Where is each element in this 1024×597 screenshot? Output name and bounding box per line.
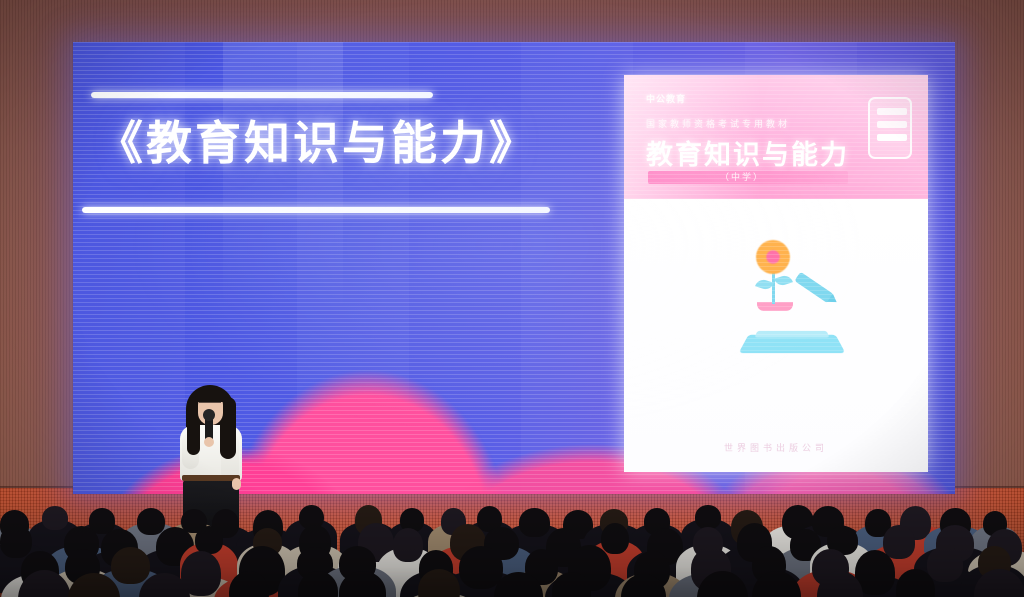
illustration-book-icon bbox=[739, 335, 846, 353]
book-series-label: 国家教师资格考试专用教材 bbox=[646, 117, 790, 130]
book-brand-label: 中公教育 bbox=[646, 92, 686, 105]
audience-member-head bbox=[927, 546, 963, 581]
book-title: 教育知识与能力 bbox=[646, 133, 849, 172]
illustration-leaf-right bbox=[774, 274, 793, 288]
illustration-stem bbox=[772, 270, 775, 304]
seated-audience bbox=[0, 496, 1024, 597]
audience-member-head bbox=[601, 523, 629, 554]
title-rule-bottom bbox=[82, 207, 550, 213]
audience-member-head bbox=[195, 526, 223, 554]
audience-member-head bbox=[883, 525, 915, 559]
audience-member-head bbox=[695, 505, 721, 529]
glasses-icon bbox=[199, 402, 221, 407]
illustration-pot-icon bbox=[757, 302, 793, 311]
book-publisher-label: 世界图书出版公司 bbox=[624, 441, 928, 454]
audience-member-head bbox=[519, 508, 549, 537]
slide-title: 《教育知识与能力》 bbox=[97, 120, 617, 166]
illustration-pencil-icon bbox=[794, 272, 833, 303]
presenter-hand bbox=[204, 437, 214, 447]
book-cover-image: 中公教育 国家教师资格考试专用教材 教育知识与能力 （中学） 世界图书出版公司 bbox=[624, 75, 928, 472]
illustration-flower-icon bbox=[756, 240, 790, 274]
title-rule-top bbox=[91, 92, 433, 98]
book-badge-icon bbox=[868, 97, 912, 159]
audience-member-head bbox=[459, 546, 503, 589]
audience-member-head bbox=[393, 528, 423, 561]
presenter-hair-front bbox=[195, 389, 226, 402]
presenter-hand-free bbox=[232, 478, 241, 490]
book-illustration bbox=[732, 240, 852, 360]
audience-member-head bbox=[42, 506, 68, 530]
book-subject-label: （中学） bbox=[720, 170, 764, 183]
presentation-photo-scene: 《教育知识与能力》 中公教育 国家教师资格考试专用教材 教育知识与能力 （中学） bbox=[0, 0, 1024, 597]
audience-member-head bbox=[111, 547, 150, 584]
audience-member-head bbox=[0, 524, 32, 558]
audience-member-head bbox=[137, 508, 165, 535]
